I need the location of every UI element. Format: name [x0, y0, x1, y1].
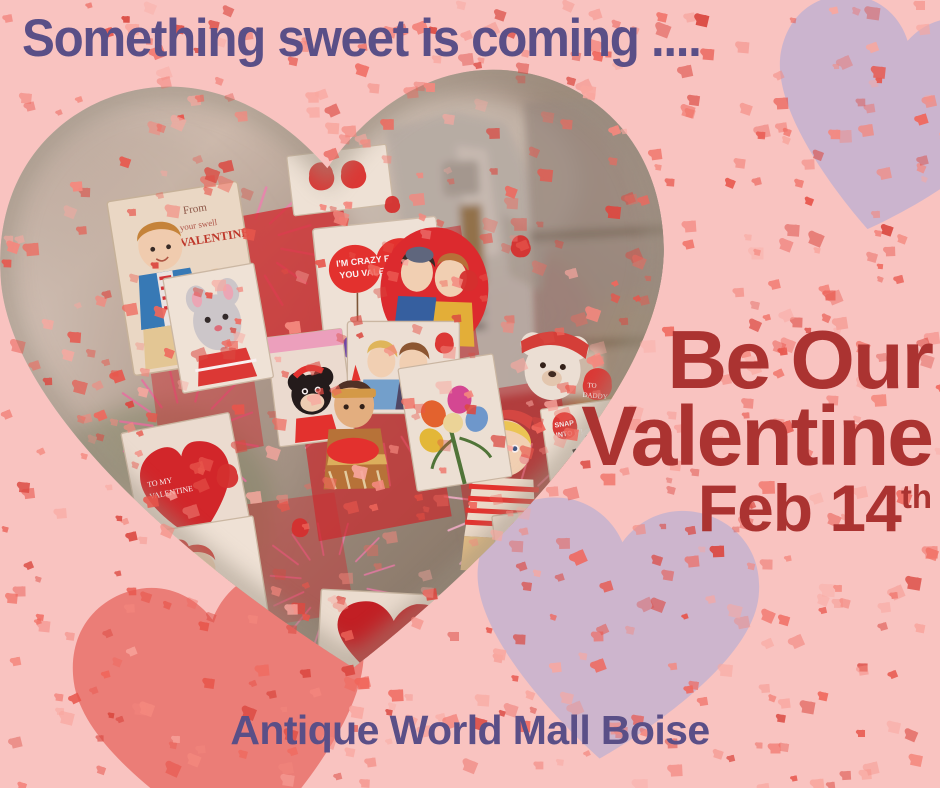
confetti-heart	[55, 693, 63, 701]
confetti-heart	[535, 762, 543, 770]
confetti-heart	[834, 599, 843, 608]
confetti-heart	[463, 758, 479, 774]
confetti-heart	[842, 770, 851, 779]
confetti-heart	[790, 634, 805, 649]
tagline-line-1: Be Our	[581, 322, 932, 398]
confetti-heart	[685, 108, 695, 118]
confetti-heart	[819, 692, 829, 702]
confetti-heart	[926, 548, 939, 561]
confetti-heart	[822, 583, 835, 596]
confetti-heart	[820, 284, 830, 294]
confetti-heart	[725, 178, 736, 189]
confetti-heart	[735, 159, 745, 169]
confetti-heart	[4, 14, 13, 23]
tagline-block: Be Our Valentine Feb 14th	[581, 322, 932, 538]
valentine-poster: From your swell VALENTINE	[0, 0, 940, 788]
page-title: Something sweet is coming ....	[22, 12, 701, 65]
confetti-heart	[762, 638, 773, 649]
confetti-heart	[779, 615, 790, 626]
confetti-heart	[635, 779, 648, 788]
confetti-heart	[754, 249, 761, 256]
confetti-heart	[817, 594, 830, 607]
confetti-heart	[877, 263, 882, 268]
confetti-heart	[751, 301, 760, 310]
confetti-heart	[886, 247, 896, 257]
confetti-heart	[867, 252, 878, 263]
confetti-heart	[18, 782, 27, 788]
confetti-heart	[820, 607, 827, 614]
confetti-heart	[681, 104, 695, 118]
confetti-heart	[406, 694, 413, 701]
confetti-heart	[740, 103, 753, 116]
confetti-heart	[813, 779, 825, 788]
decorative-heart-top-right	[745, 0, 940, 257]
confetti-heart	[751, 248, 763, 260]
tagline-date: Feb 14th	[581, 478, 932, 539]
confetti-heart	[685, 220, 697, 232]
confetti-heart	[889, 584, 905, 600]
confetti-heart	[879, 622, 888, 631]
confetti-heart	[835, 585, 842, 592]
confetti-heart	[735, 288, 744, 297]
confetti-heart	[392, 689, 404, 701]
confetti-heart	[936, 448, 940, 455]
confetti-heart	[925, 546, 938, 559]
confetti-heart	[891, 592, 898, 599]
confetti-heart	[878, 276, 884, 282]
confetti-heart	[910, 754, 923, 767]
confetti-heart	[841, 598, 851, 608]
confetti-heart	[158, 66, 172, 80]
confetti-heart	[685, 240, 695, 250]
confetti-heart	[761, 684, 770, 693]
confetti-heart	[889, 670, 898, 679]
confetti-heart	[865, 762, 879, 776]
tagline-date-ordinal-suffix: th	[901, 478, 932, 515]
confetti-heart	[745, 234, 752, 241]
confetti-heart	[759, 783, 770, 788]
confetti-heart	[761, 610, 776, 625]
confetti-heart	[689, 95, 700, 106]
confetti-heart	[828, 289, 844, 305]
confetti-heart	[785, 555, 791, 561]
confetti-heart	[907, 576, 922, 591]
confetti-heart	[861, 769, 872, 780]
confetti-heart	[703, 49, 715, 61]
confetti-heart	[787, 225, 799, 237]
confetti-heart	[815, 247, 821, 253]
confetti-heart	[808, 231, 825, 248]
business-name: Antique World Mall Boise	[0, 707, 940, 754]
confetti-heart	[779, 238, 793, 252]
tagline-date-main: Feb 14	[698, 471, 901, 545]
confetti-heart	[895, 275, 904, 284]
confetti-heart	[769, 694, 777, 702]
confetti-heart	[858, 665, 869, 676]
confetti-heart	[880, 602, 891, 613]
confetti-heart	[915, 624, 925, 634]
tagline-line-2: Valentine	[581, 398, 932, 475]
confetti-heart	[557, 759, 564, 766]
confetti-heart	[791, 775, 797, 781]
confetti-heart	[86, 2, 92, 8]
confetti-heart	[826, 291, 836, 301]
confetti-heart	[828, 782, 836, 788]
confetti-heart	[770, 279, 781, 290]
confetti-heart	[859, 663, 867, 671]
confetti-heart	[738, 41, 750, 53]
